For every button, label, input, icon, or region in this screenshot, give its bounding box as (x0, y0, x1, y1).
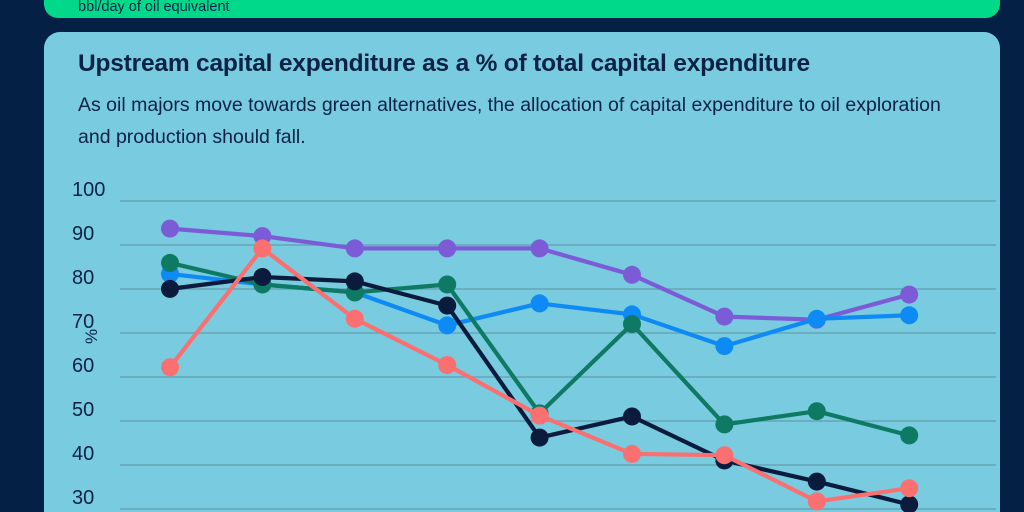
chart-subtitle: As oil majors move towards green alterna… (78, 89, 948, 153)
data-point[interactable] (161, 220, 179, 238)
data-point[interactable] (900, 426, 918, 444)
data-point[interactable] (346, 272, 364, 290)
data-point[interactable] (253, 239, 271, 257)
data-point[interactable] (715, 415, 733, 433)
data-point[interactable] (438, 239, 456, 257)
banner-caption: bbl/day of oil equivalent (78, 0, 230, 18)
data-point[interactable] (531, 239, 549, 257)
screenshot-root: bbl/day of oil equivalent Upstream capit… (0, 0, 1024, 512)
data-point[interactable] (623, 315, 641, 333)
data-point[interactable] (623, 445, 641, 463)
data-point[interactable] (900, 306, 918, 324)
data-point[interactable] (900, 495, 918, 512)
data-point[interactable] (438, 356, 456, 374)
data-point[interactable] (438, 316, 456, 334)
data-point[interactable] (715, 337, 733, 355)
data-point[interactable] (900, 286, 918, 304)
data-point[interactable] (808, 473, 826, 491)
data-point[interactable] (438, 275, 456, 293)
data-point[interactable] (531, 294, 549, 312)
series-red-series (161, 239, 918, 510)
data-point[interactable] (346, 310, 364, 328)
data-point[interactable] (161, 280, 179, 298)
line-chart-plot: % 10090807060504030 (72, 168, 1000, 512)
data-point[interactable] (715, 308, 733, 326)
data-point[interactable] (253, 268, 271, 286)
data-point[interactable] (623, 407, 641, 425)
data-point[interactable] (808, 310, 826, 328)
page-title: Upstream capital expenditure as a % of t… (78, 50, 810, 78)
data-point[interactable] (623, 266, 641, 284)
data-point[interactable] (531, 429, 549, 447)
data-point[interactable] (161, 358, 179, 376)
data-point[interactable] (715, 446, 733, 464)
data-point[interactable] (161, 254, 179, 272)
data-point[interactable] (531, 407, 549, 425)
series-layer (72, 168, 1000, 512)
data-point[interactable] (346, 239, 364, 257)
data-point[interactable] (438, 297, 456, 315)
data-point[interactable] (808, 492, 826, 510)
green-banner: bbl/day of oil equivalent (44, 0, 1000, 18)
chart-card: Upstream capital expenditure as a % of t… (44, 32, 1000, 512)
data-point[interactable] (900, 479, 918, 497)
data-point[interactable] (808, 402, 826, 420)
